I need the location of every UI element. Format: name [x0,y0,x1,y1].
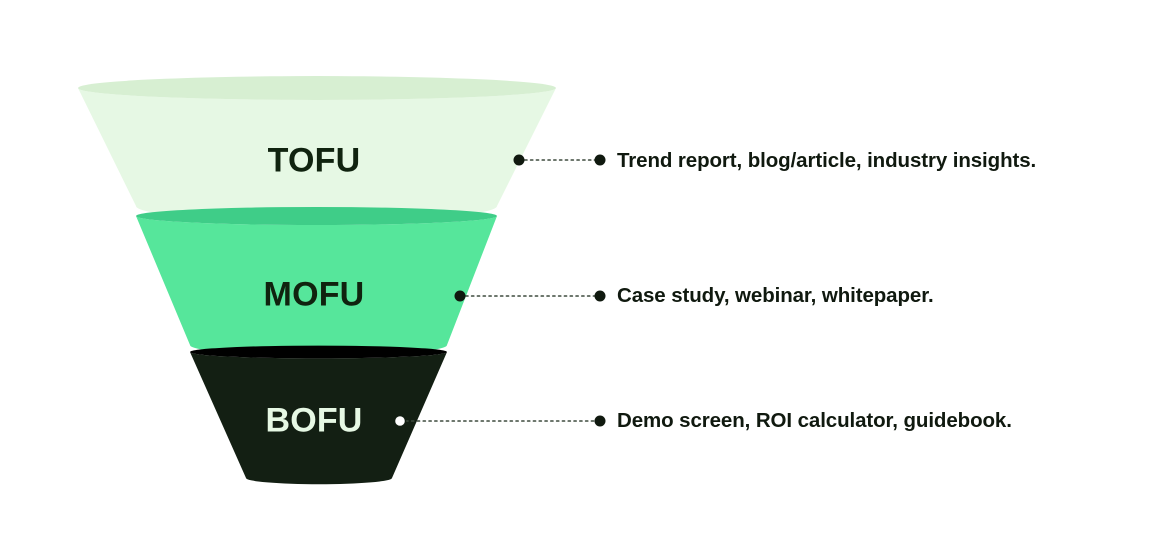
connector-target-dot-bofu [595,416,606,427]
funnel-description-mofu: Case study, webinar, whitepaper. [617,284,934,308]
funnel-tier-cap-bofu [190,346,447,359]
funnel-graphic [0,0,1161,553]
funnel-tier-body-bofu [190,352,447,484]
connector-target-dot-tofu [595,155,606,166]
funnel-tier-body-tofu [78,88,556,221]
connector-target-dot-mofu [595,291,606,302]
funnel-description-tofu: Trend report, blog/article, industry ins… [617,149,1036,173]
connector-source-dot-mofu [455,291,466,302]
funnel-diagram-canvas: TOFU MOFU BOFU Trend report, blog/articl… [0,0,1161,553]
funnel-tier-body-mofu [136,216,497,356]
connector-source-dot-tofu [514,155,525,166]
funnel-tier-cap-tofu [78,76,556,100]
funnel-tiers-group [78,76,556,484]
funnel-description-bofu: Demo screen, ROI calculator, guidebook. [617,409,1012,433]
funnel-tier-cap-mofu [136,207,497,225]
connector-source-dot-bofu [395,416,406,427]
